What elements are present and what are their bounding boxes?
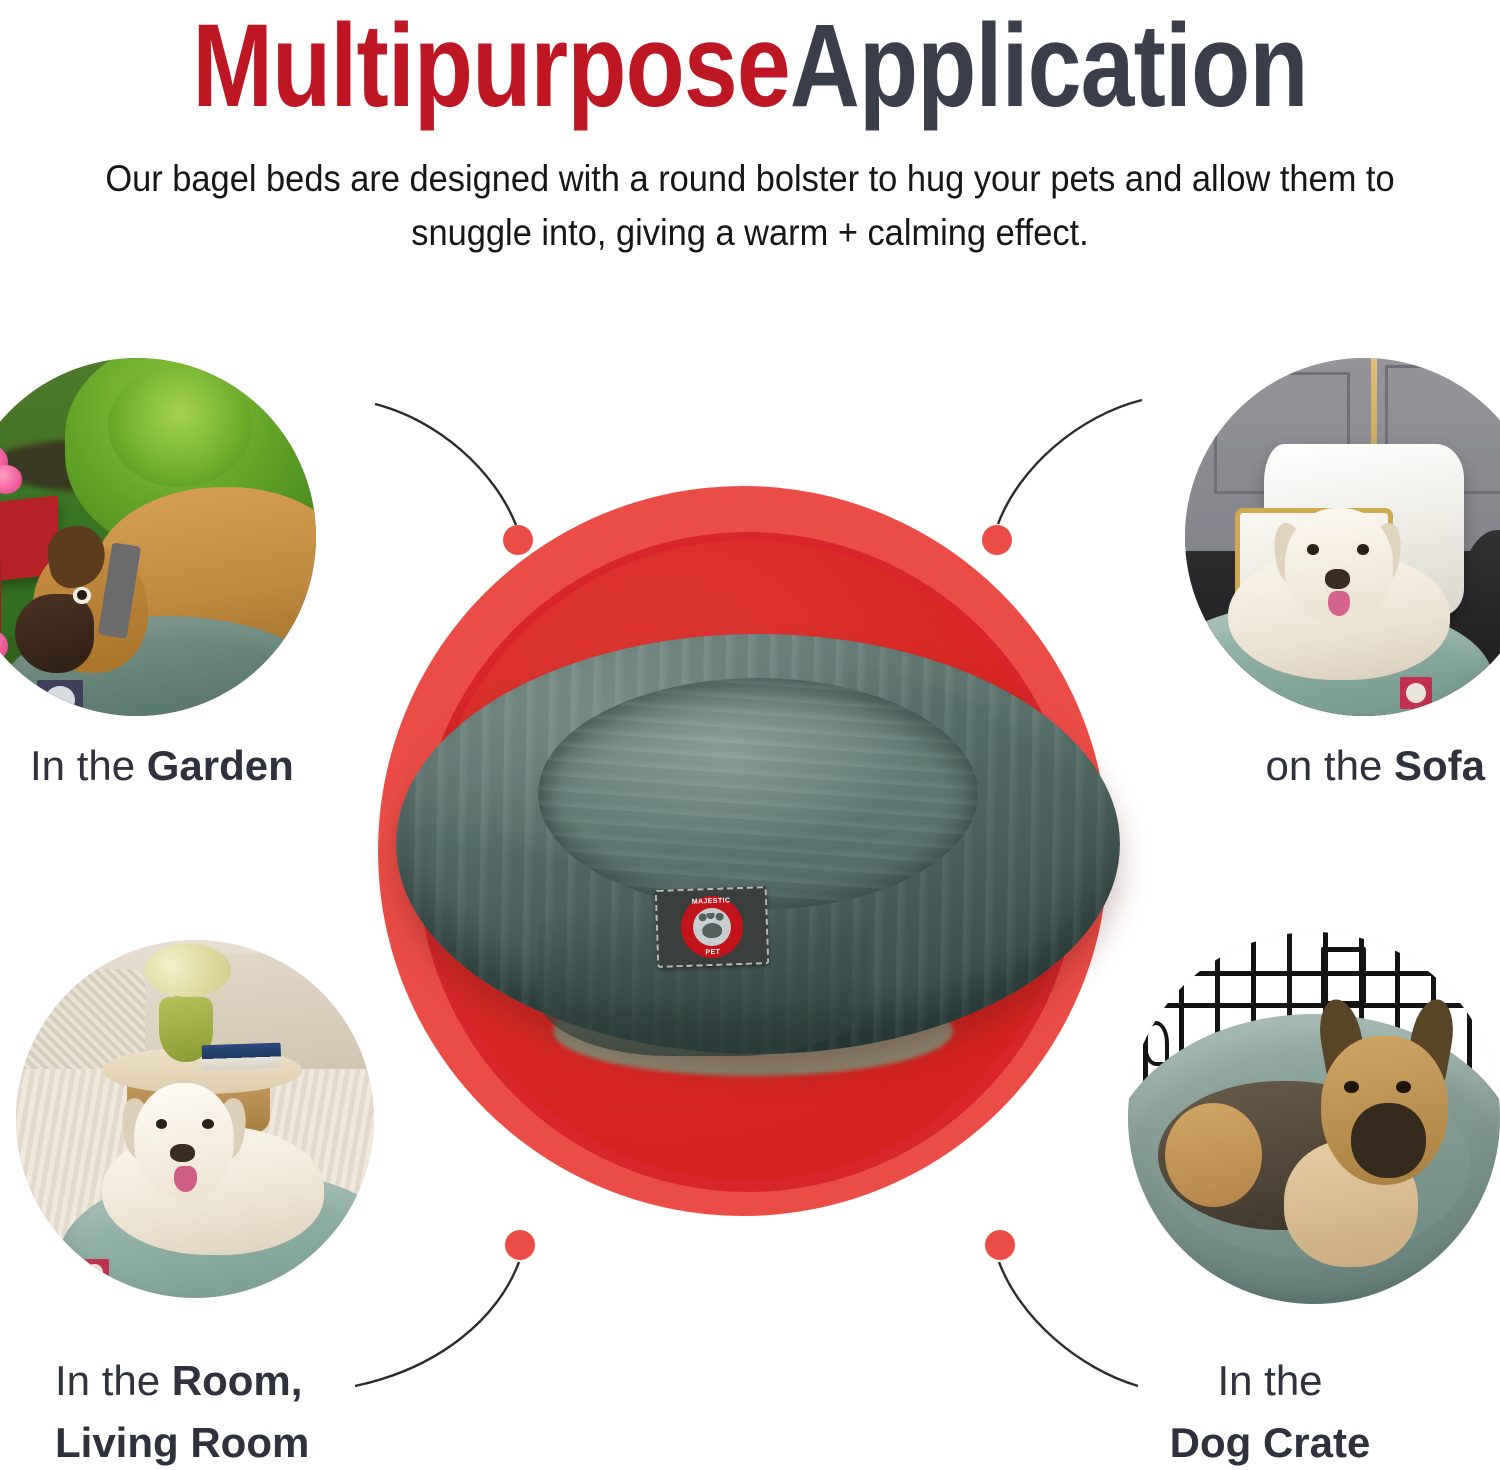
callout-label-garden-bold: Garden xyxy=(147,742,294,789)
title-word-multipurpose: Multipurpose xyxy=(192,0,790,132)
callout-label-living-room: In the Room, Living Room xyxy=(55,1350,309,1470)
callout-label-dog-crate: In the Dog Crate xyxy=(1055,1350,1485,1470)
living-room-scene xyxy=(16,940,374,1298)
connector-line-living-room xyxy=(355,1262,519,1386)
majestic-pet-tag-icon xyxy=(80,1259,109,1288)
dog-crate-scene xyxy=(1128,932,1500,1304)
page-subtitle: Our bagel beds are designed with a round… xyxy=(90,152,1411,260)
living-room-line1-bold: Room, xyxy=(172,1357,303,1404)
brand-name-top: MAJESTIC xyxy=(692,897,731,905)
callout-photo-dog-crate xyxy=(1128,932,1500,1304)
callout-label-sofa-regular: on the xyxy=(1266,742,1394,789)
hero-bagel-bed: MAJESTIC PET xyxy=(388,626,1128,1146)
callout-photo-living-room xyxy=(16,940,374,1298)
majestic-pet-tag-icon xyxy=(1400,677,1432,709)
hero-product: MAJESTIC PET xyxy=(378,486,1138,1246)
brand-name-bottom: PET xyxy=(705,949,720,957)
title-word-application: Application xyxy=(790,0,1308,132)
callout-label-dog-crate-line2: Dog Crate xyxy=(1055,1412,1485,1470)
callout-label-garden-regular: In the xyxy=(30,742,147,789)
callout-label-dog-crate-line1: In the xyxy=(1055,1350,1485,1412)
page-title: MultipurposeApplication xyxy=(135,0,1365,126)
callout-label-living-room-line2: Living Room xyxy=(55,1412,309,1470)
sofa-scene xyxy=(1185,358,1500,716)
brand-tag-text: MAJESTIC PET xyxy=(680,895,744,959)
infographic-page: MultipurposeApplication Our bagel beds a… xyxy=(0,0,1500,1470)
callout-photo-sofa xyxy=(1185,358,1500,716)
books-prop xyxy=(202,1042,282,1070)
majestic-pet-tag-icon xyxy=(37,680,84,716)
majestic-pet-brand-tag: MAJESTIC PET xyxy=(655,886,770,968)
callout-label-garden: In the Garden xyxy=(30,738,294,794)
living-room-line2-bold: Living Room xyxy=(55,1419,309,1466)
dog-crate-line2-bold: Dog Crate xyxy=(1170,1419,1371,1466)
callout-photo-garden xyxy=(0,358,316,716)
header: MultipurposeApplication Our bagel beds a… xyxy=(0,0,1500,260)
living-room-line1-regular: In the xyxy=(55,1357,172,1404)
brand-disc: MAJESTIC PET xyxy=(680,895,744,959)
callout-label-living-room-line1: In the Room, xyxy=(55,1350,309,1412)
callout-label-sofa-bold: Sofa xyxy=(1394,742,1485,789)
garden-scene xyxy=(0,358,316,716)
